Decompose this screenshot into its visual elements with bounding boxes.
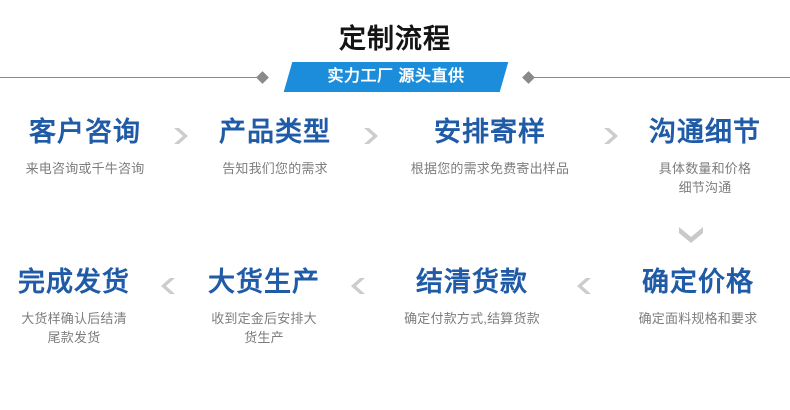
flow-step-1-desc-line-1: 来电咨询或千牛咨询 [5, 159, 165, 178]
flow-step-6-desc-line-1: 确定付款方式,结算货款 [374, 309, 570, 328]
flow-step-3-description: 根据您的需求免费寄出样品 [385, 159, 595, 178]
flow-step-6: 结清货款 确定付款方式,结算货款 [374, 262, 570, 328]
flow-step-3-desc-line-1: 根据您的需求免费寄出样品 [385, 159, 595, 178]
flow-step-1: 客户咨询 来电咨询或千牛咨询 [5, 112, 165, 178]
decorative-rule-left [0, 77, 262, 78]
flow-step-8-description: 大货样确认后结清 尾款发货 [0, 309, 154, 347]
flow-step-1-title: 客户咨询 [5, 112, 165, 152]
flow-step-8-title: 完成发货 [0, 262, 154, 302]
diamond-bullet-icon-left [256, 71, 269, 84]
chevron-right-icon-1 [165, 112, 195, 152]
header-section: 定制流程 实力工厂 源头直供 [0, 0, 790, 100]
chevron-right-icon-2 [355, 112, 385, 152]
flow-step-4-description: 具体数量和价格 细节沟通 [625, 159, 785, 197]
flow-step-3-title: 安排寄样 [385, 112, 595, 152]
flow-step-7-desc-line-1: 收到定金后安排大 [184, 309, 344, 328]
flow-step-7-description: 收到定金后安排大 货生产 [184, 309, 344, 347]
flow-step-2-desc-line-1: 告知我们您的需求 [195, 159, 355, 178]
flow-step-5-title: 确定价格 [600, 262, 790, 302]
flow-step-4: 沟通细节 具体数量和价格 细节沟通 [625, 112, 785, 197]
banner-label: 实力工厂 源头直供 [288, 62, 504, 92]
page-title: 定制流程 [0, 22, 790, 56]
flow-step-5-description: 确定面料规格和要求 [600, 309, 790, 328]
flow-step-4-title: 沟通细节 [625, 112, 785, 152]
custom-process-infographic: 定制流程 实力工厂 源头直供 客户咨询 来电咨询或千牛咨询 产品类型 告知我们您… [0, 0, 790, 410]
flow-row-two: 完成发货 大货样确认后结清 尾款发货 大货生产 收到定金后安排大 货生产 结 [0, 262, 790, 347]
flow-step-7-desc-line-2: 货生产 [184, 328, 344, 347]
flow-step-8: 完成发货 大货样确认后结清 尾款发货 [0, 262, 154, 347]
chevron-right-icon-3 [595, 112, 625, 152]
diamond-bullet-icon-right [522, 71, 535, 84]
flow-step-2-title: 产品类型 [195, 112, 355, 152]
flow-step-8-desc-line-2: 尾款发货 [0, 328, 154, 347]
flow-step-7-title: 大货生产 [184, 262, 344, 302]
chevron-left-icon-1 [154, 262, 184, 302]
flow-step-2-description: 告知我们您的需求 [195, 159, 355, 178]
flow-step-6-title: 结清货款 [374, 262, 570, 302]
decorative-rule-right [528, 77, 790, 78]
flow-row-one: 客户咨询 来电咨询或千牛咨询 产品类型 告知我们您的需求 安排寄样 根据您的需 [0, 112, 790, 197]
flow-step-2: 产品类型 告知我们您的需求 [195, 112, 355, 178]
chevron-left-icon-2 [344, 262, 374, 302]
flow-step-4-desc-line-2: 细节沟通 [625, 178, 785, 197]
flow-step-6-description: 确定付款方式,结算货款 [374, 309, 570, 328]
flow-step-8-desc-line-1: 大货样确认后结清 [0, 309, 154, 328]
flow-step-5: 确定价格 确定面料规格和要求 [600, 262, 790, 328]
chevron-down-icon [676, 224, 706, 246]
flow-step-5-desc-line-1: 确定面料规格和要求 [600, 309, 790, 328]
flow-step-1-description: 来电咨询或千牛咨询 [5, 159, 165, 178]
flow-step-3: 安排寄样 根据您的需求免费寄出样品 [385, 112, 595, 178]
chevron-left-icon-3 [570, 262, 600, 302]
flow-step-4-desc-line-1: 具体数量和价格 [625, 159, 785, 178]
flow-step-7: 大货生产 收到定金后安排大 货生产 [184, 262, 344, 347]
